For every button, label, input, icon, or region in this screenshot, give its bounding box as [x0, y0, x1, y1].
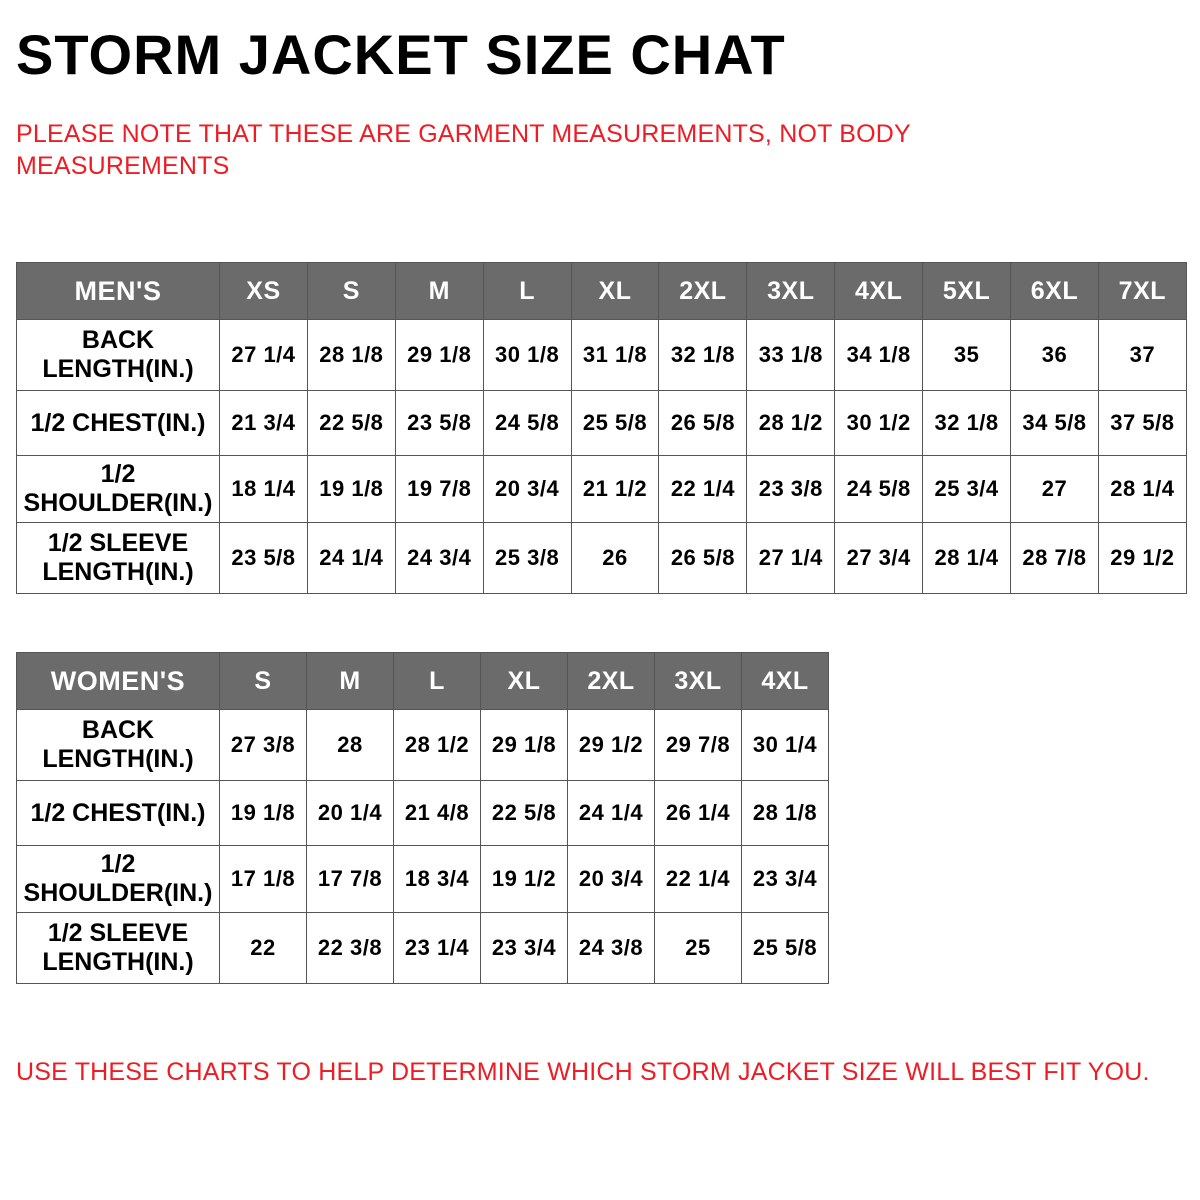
cell-womens-half-sleeve-4xl: 25 5/8: [742, 913, 829, 984]
cell-mens-half-sleeve-3xl: 27 1/4: [747, 523, 835, 594]
cell-mens-half-shoulder-3xl: 23 3/8: [747, 456, 835, 523]
cell-womens-back-length-2xl: 29 1/2: [568, 710, 655, 781]
cell-mens-half-chest-3xl: 28 1/2: [747, 391, 835, 456]
mens-size-header-s: S: [307, 263, 395, 320]
cell-mens-back-length-l: 30 1/8: [483, 320, 571, 391]
mens-size-header-7xl: 7XL: [1098, 263, 1186, 320]
cell-mens-half-chest-7xl: 37 5/8: [1098, 391, 1186, 456]
page-title: STORM JACKET SIZE CHAT: [16, 24, 786, 86]
cell-mens-half-sleeve-xs: 23 5/8: [220, 523, 308, 594]
womens-table-title: WOMEN'S: [17, 653, 220, 710]
table-row: 1/2 SHOULDER(IN.) 17 1/8 17 7/8 18 3/4 1…: [17, 846, 829, 913]
cell-womens-back-length-xl: 29 1/8: [481, 710, 568, 781]
cell-womens-half-shoulder-4xl: 23 3/4: [742, 846, 829, 913]
cell-womens-back-length-4xl: 30 1/4: [742, 710, 829, 781]
womens-size-header-s: S: [220, 653, 307, 710]
mens-size-header-m: M: [395, 263, 483, 320]
womens-row-label-back-length: BACKLENGTH(IN.): [17, 710, 220, 781]
mens-header-row: MEN'S XS S M L XL 2XL 3XL 4XL 5XL 6XL 7X…: [17, 263, 1187, 320]
cell-mens-half-sleeve-2xl: 26 5/8: [659, 523, 747, 594]
cell-womens-half-chest-4xl: 28 1/8: [742, 781, 829, 846]
table-row: 1/2 CHEST(IN.) 21 3/4 22 5/8 23 5/8 24 5…: [17, 391, 1187, 456]
cell-mens-half-sleeve-l: 25 3/8: [483, 523, 571, 594]
cell-womens-back-length-s: 27 3/8: [220, 710, 307, 781]
row-label-line-1: BACK: [82, 716, 154, 744]
cell-womens-half-chest-m: 20 1/4: [307, 781, 394, 846]
cell-mens-half-chest-xl: 25 5/8: [571, 391, 659, 456]
use-charts-note: USE THESE CHARTS TO HELP DETERMINE WHICH…: [16, 1057, 1176, 1087]
cell-womens-half-chest-l: 21 4/8: [394, 781, 481, 846]
cell-womens-back-length-l: 28 1/2: [394, 710, 481, 781]
mens-table-title: MEN'S: [17, 263, 220, 320]
table-row: 1/2 SHOULDER(IN.) 18 1/4 19 1/8 19 7/8 2…: [17, 456, 1187, 523]
cell-mens-half-shoulder-l: 20 3/4: [483, 456, 571, 523]
cell-mens-half-sleeve-6xl: 28 7/8: [1011, 523, 1099, 594]
cell-womens-half-sleeve-2xl: 24 3/8: [568, 913, 655, 984]
womens-size-header-m: M: [307, 653, 394, 710]
cell-mens-half-shoulder-6xl: 27: [1011, 456, 1099, 523]
row-label-line-2: LENGTH(IN.): [42, 948, 193, 976]
cell-mens-back-length-6xl: 36: [1011, 320, 1099, 391]
mens-row-label-half-shoulder: 1/2 SHOULDER(IN.): [17, 456, 220, 523]
cell-mens-half-sleeve-7xl: 29 1/2: [1098, 523, 1186, 594]
cell-mens-back-length-7xl: 37: [1098, 320, 1186, 391]
cell-womens-half-chest-s: 19 1/8: [220, 781, 307, 846]
cell-mens-half-shoulder-7xl: 28 1/4: [1098, 456, 1186, 523]
womens-row-label-half-chest: 1/2 CHEST(IN.): [17, 781, 220, 846]
table-row: 1/2 CHEST(IN.) 19 1/8 20 1/4 21 4/8 22 5…: [17, 781, 829, 846]
womens-row-label-half-sleeve: 1/2 SLEEVELENGTH(IN.): [17, 913, 220, 984]
cell-mens-half-chest-l: 24 5/8: [483, 391, 571, 456]
womens-size-header-4xl: 4XL: [742, 653, 829, 710]
womens-size-header-2xl: 2XL: [568, 653, 655, 710]
mens-row-label-half-chest: 1/2 CHEST(IN.): [17, 391, 220, 456]
cell-mens-half-sleeve-m: 24 3/4: [395, 523, 483, 594]
womens-row-label-half-shoulder: 1/2 SHOULDER(IN.): [17, 846, 220, 913]
cell-mens-half-chest-m: 23 5/8: [395, 391, 483, 456]
cell-womens-half-sleeve-l: 23 1/4: [394, 913, 481, 984]
cell-mens-half-sleeve-s: 24 1/4: [307, 523, 395, 594]
garment-measurement-note: PLEASE NOTE THAT THESE ARE GARMENT MEASU…: [16, 118, 976, 182]
mens-size-header-4xl: 4XL: [835, 263, 923, 320]
cell-womens-half-shoulder-l: 18 3/4: [394, 846, 481, 913]
cell-mens-half-shoulder-5xl: 25 3/4: [923, 456, 1011, 523]
cell-mens-half-shoulder-m: 19 7/8: [395, 456, 483, 523]
mens-row-label-back-length: BACKLENGTH(IN.): [17, 320, 220, 391]
cell-womens-half-sleeve-xl: 23 3/4: [481, 913, 568, 984]
mens-size-header-xl: XL: [571, 263, 659, 320]
mens-size-header-3xl: 3XL: [747, 263, 835, 320]
womens-size-header-l: L: [394, 653, 481, 710]
cell-womens-half-shoulder-m: 17 7/8: [307, 846, 394, 913]
cell-womens-half-sleeve-3xl: 25: [655, 913, 742, 984]
cell-womens-half-shoulder-s: 17 1/8: [220, 846, 307, 913]
mens-size-header-xs: XS: [220, 263, 308, 320]
size-chart-page: STORM JACKET SIZE CHAT PLEASE NOTE THAT …: [0, 0, 1200, 1200]
mens-row-label-half-sleeve: 1/2 SLEEVELENGTH(IN.): [17, 523, 220, 594]
cell-mens-half-shoulder-4xl: 24 5/8: [835, 456, 923, 523]
row-label-line-2: LENGTH(IN.): [42, 355, 193, 383]
cell-mens-half-chest-6xl: 34 5/8: [1011, 391, 1099, 456]
cell-mens-half-shoulder-xl: 21 1/2: [571, 456, 659, 523]
table-row: BACKLENGTH(IN.) 27 1/4 28 1/8 29 1/8 30 …: [17, 320, 1187, 391]
cell-womens-back-length-3xl: 29 7/8: [655, 710, 742, 781]
womens-header-row: WOMEN'S S M L XL 2XL 3XL 4XL: [17, 653, 829, 710]
mens-size-header-6xl: 6XL: [1011, 263, 1099, 320]
cell-womens-back-length-m: 28: [307, 710, 394, 781]
cell-mens-back-length-5xl: 35: [923, 320, 1011, 391]
cell-mens-back-length-3xl: 33 1/8: [747, 320, 835, 391]
cell-mens-half-sleeve-5xl: 28 1/4: [923, 523, 1011, 594]
womens-size-header-xl: XL: [481, 653, 568, 710]
cell-mens-half-sleeve-xl: 26: [571, 523, 659, 594]
cell-mens-back-length-2xl: 32 1/8: [659, 320, 747, 391]
cell-mens-half-chest-2xl: 26 5/8: [659, 391, 747, 456]
cell-womens-half-sleeve-s: 22: [220, 913, 307, 984]
cell-mens-back-length-m: 29 1/8: [395, 320, 483, 391]
row-label-line-2: LENGTH(IN.): [42, 558, 193, 586]
cell-womens-half-chest-3xl: 26 1/4: [655, 781, 742, 846]
row-label-line-1: BACK: [82, 326, 154, 354]
womens-size-header-3xl: 3XL: [655, 653, 742, 710]
cell-mens-back-length-xl: 31 1/8: [571, 320, 659, 391]
mens-size-table: MEN'S XS S M L XL 2XL 3XL 4XL 5XL 6XL 7X…: [16, 262, 1187, 594]
cell-womens-half-shoulder-2xl: 20 3/4: [568, 846, 655, 913]
cell-mens-back-length-4xl: 34 1/8: [835, 320, 923, 391]
cell-mens-half-shoulder-xs: 18 1/4: [220, 456, 308, 523]
mens-size-header-5xl: 5XL: [923, 263, 1011, 320]
table-row: 1/2 SLEEVELENGTH(IN.) 22 22 3/8 23 1/4 2…: [17, 913, 829, 984]
cell-mens-back-length-xs: 27 1/4: [220, 320, 308, 391]
cell-womens-half-shoulder-xl: 19 1/2: [481, 846, 568, 913]
row-label-line-1: 1/2 SLEEVE: [48, 919, 188, 947]
womens-size-table: WOMEN'S S M L XL 2XL 3XL 4XL BACKLENGTH(…: [16, 652, 829, 984]
table-row: BACKLENGTH(IN.) 27 3/8 28 28 1/2 29 1/8 …: [17, 710, 829, 781]
cell-mens-half-chest-s: 22 5/8: [307, 391, 395, 456]
cell-mens-half-shoulder-s: 19 1/8: [307, 456, 395, 523]
mens-size-header-l: L: [483, 263, 571, 320]
cell-mens-half-chest-4xl: 30 1/2: [835, 391, 923, 456]
cell-mens-back-length-s: 28 1/8: [307, 320, 395, 391]
cell-womens-half-shoulder-3xl: 22 1/4: [655, 846, 742, 913]
row-label-line-2: LENGTH(IN.): [42, 745, 193, 773]
table-row: 1/2 SLEEVELENGTH(IN.) 23 5/8 24 1/4 24 3…: [17, 523, 1187, 594]
cell-mens-half-sleeve-4xl: 27 3/4: [835, 523, 923, 594]
cell-mens-half-chest-xs: 21 3/4: [220, 391, 308, 456]
cell-mens-half-shoulder-2xl: 22 1/4: [659, 456, 747, 523]
row-label-line-1: 1/2 SLEEVE: [48, 529, 188, 557]
cell-womens-half-chest-2xl: 24 1/4: [568, 781, 655, 846]
cell-womens-half-sleeve-m: 22 3/8: [307, 913, 394, 984]
cell-womens-half-chest-xl: 22 5/8: [481, 781, 568, 846]
mens-size-header-2xl: 2XL: [659, 263, 747, 320]
cell-mens-half-chest-5xl: 32 1/8: [923, 391, 1011, 456]
